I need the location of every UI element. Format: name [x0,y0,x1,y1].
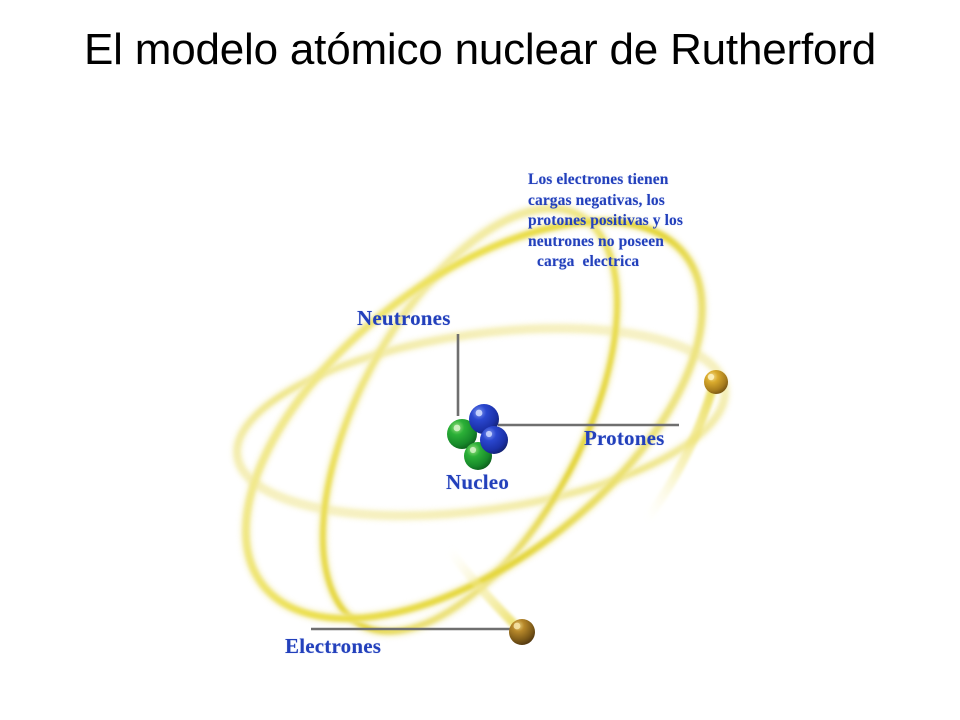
charge-note-line: protones positivas y los [528,211,740,232]
charge-note-line: cargas negativas, los [528,191,740,212]
charge-note-line: neutrones no poseen [528,232,740,253]
rutherford-atom-diagram: Los electrones tienen cargas negativas, … [0,0,960,720]
label-protones: Protones [584,426,665,451]
electron-bottom [509,619,535,645]
slide-canvas: El modelo atómico nuclear de Rutherford [0,0,960,720]
charge-note-line: Los electrones tienen [528,170,740,191]
charge-explanation-note: Los electrones tienen cargas negativas, … [528,170,740,273]
atom-illustration [0,0,960,720]
proton-particle [480,426,508,454]
label-electrones: Electrones [285,634,381,659]
charge-note-line: carga electrica [528,252,740,273]
label-neutrones: Neutrones [357,306,451,331]
nucleus-cluster [447,404,508,470]
electron-right [704,370,728,394]
label-nucleo: Nucleo [446,470,509,495]
